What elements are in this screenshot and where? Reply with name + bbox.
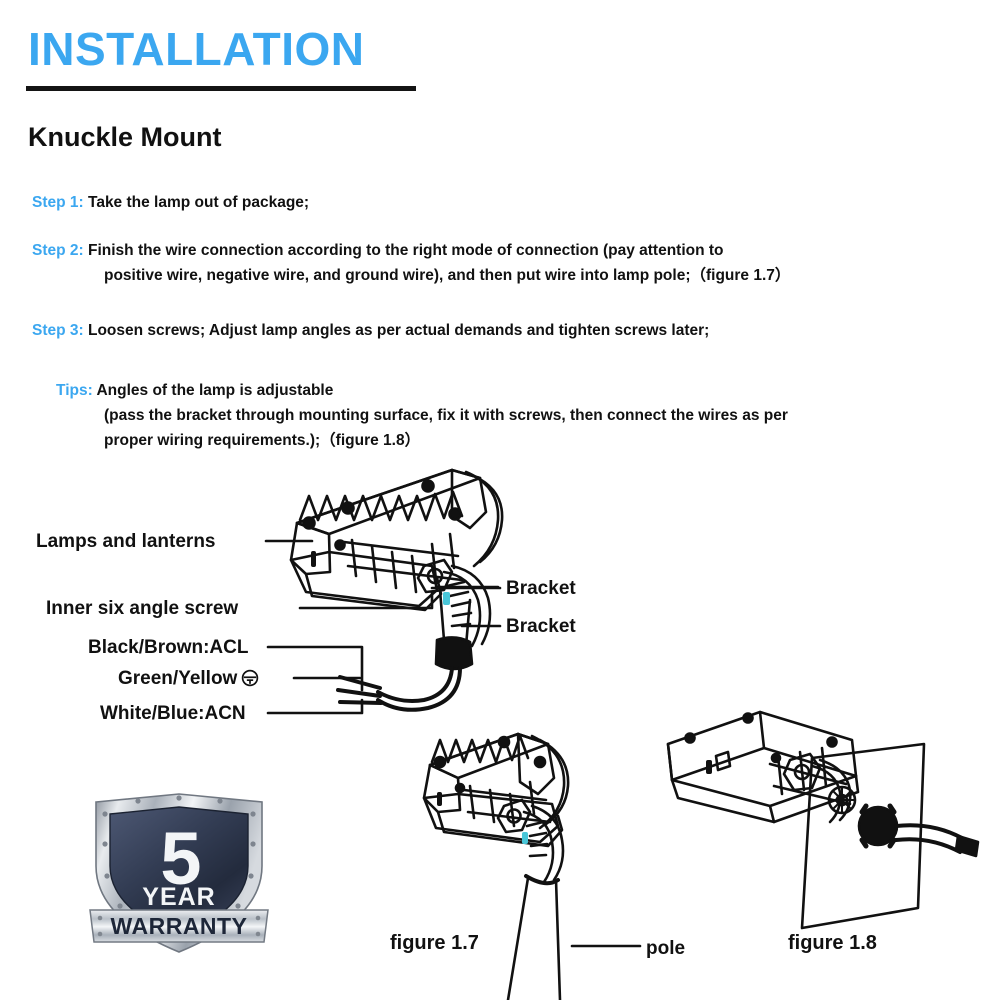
callout-lamps-and-lanterns: Lamps and lanterns [36, 531, 216, 553]
warranty-word: WARRANTY [111, 913, 248, 939]
callout-green-yellow-label: Green/Yellow [118, 668, 237, 689]
warranty-badge: 5 YEAR WARRANTY [86, 792, 272, 956]
title-underline-rule [26, 86, 416, 91]
tips-text-line3: proper wiring requirements.);（figure 1.8… [104, 428, 976, 453]
callout-black-brown-acl: Black/Brown:ACL [88, 637, 248, 659]
figure-1-8-lamp [668, 712, 978, 928]
step-2-tag: Step 2: [32, 238, 84, 263]
step-3-tag: Step 3: [32, 318, 84, 343]
figure-1-7-lamp [424, 734, 568, 1000]
step-1: Step 1: Take the lamp out of package; [32, 190, 972, 215]
step-2: Step 2: Finish the wire connection accor… [32, 238, 972, 288]
step-2-text: Finish the wire connection according to … [88, 242, 724, 259]
tips-text: Angles of the lamp is adjustable [96, 382, 333, 399]
callout-bracket-lower: Bracket [506, 616, 576, 638]
step-1-text: Take the lamp out of package; [88, 194, 309, 211]
earth-ground-icon [241, 669, 259, 693]
callout-green-yellow-ground: Green/Yellow [118, 668, 259, 693]
tips-text-line2: (pass the bracket through mounting surfa… [104, 403, 976, 428]
figure-1-8-label: figure 1.8 [788, 932, 877, 955]
callout-leader-lines [266, 541, 500, 713]
section-title: Knuckle Mount [28, 122, 222, 153]
callout-pole: pole [646, 938, 685, 960]
warranty-year-word: YEAR [142, 883, 215, 911]
tips-tag: Tips: [56, 378, 93, 403]
step-1-tag: Step 1: [32, 190, 84, 215]
step-3-text: Loosen screws; Adjust lamp angles as per… [88, 322, 709, 339]
figure-1-7-label: figure 1.7 [390, 932, 479, 955]
callout-white-blue-acn: White/Blue:ACN [100, 703, 246, 725]
main-lamp-figure [291, 470, 502, 710]
step-3: Step 3: Loosen screws; Adjust lamp angle… [32, 318, 972, 343]
step-2-text-line2: positive wire, negative wire, and ground… [104, 263, 972, 288]
page-title: INSTALLATION [28, 26, 364, 72]
callout-inner-six-angle-screw: Inner six angle screw [46, 598, 238, 620]
callout-bracket-upper: Bracket [506, 578, 576, 600]
tips-block: Tips: Angles of the lamp is adjustable (… [56, 378, 976, 453]
